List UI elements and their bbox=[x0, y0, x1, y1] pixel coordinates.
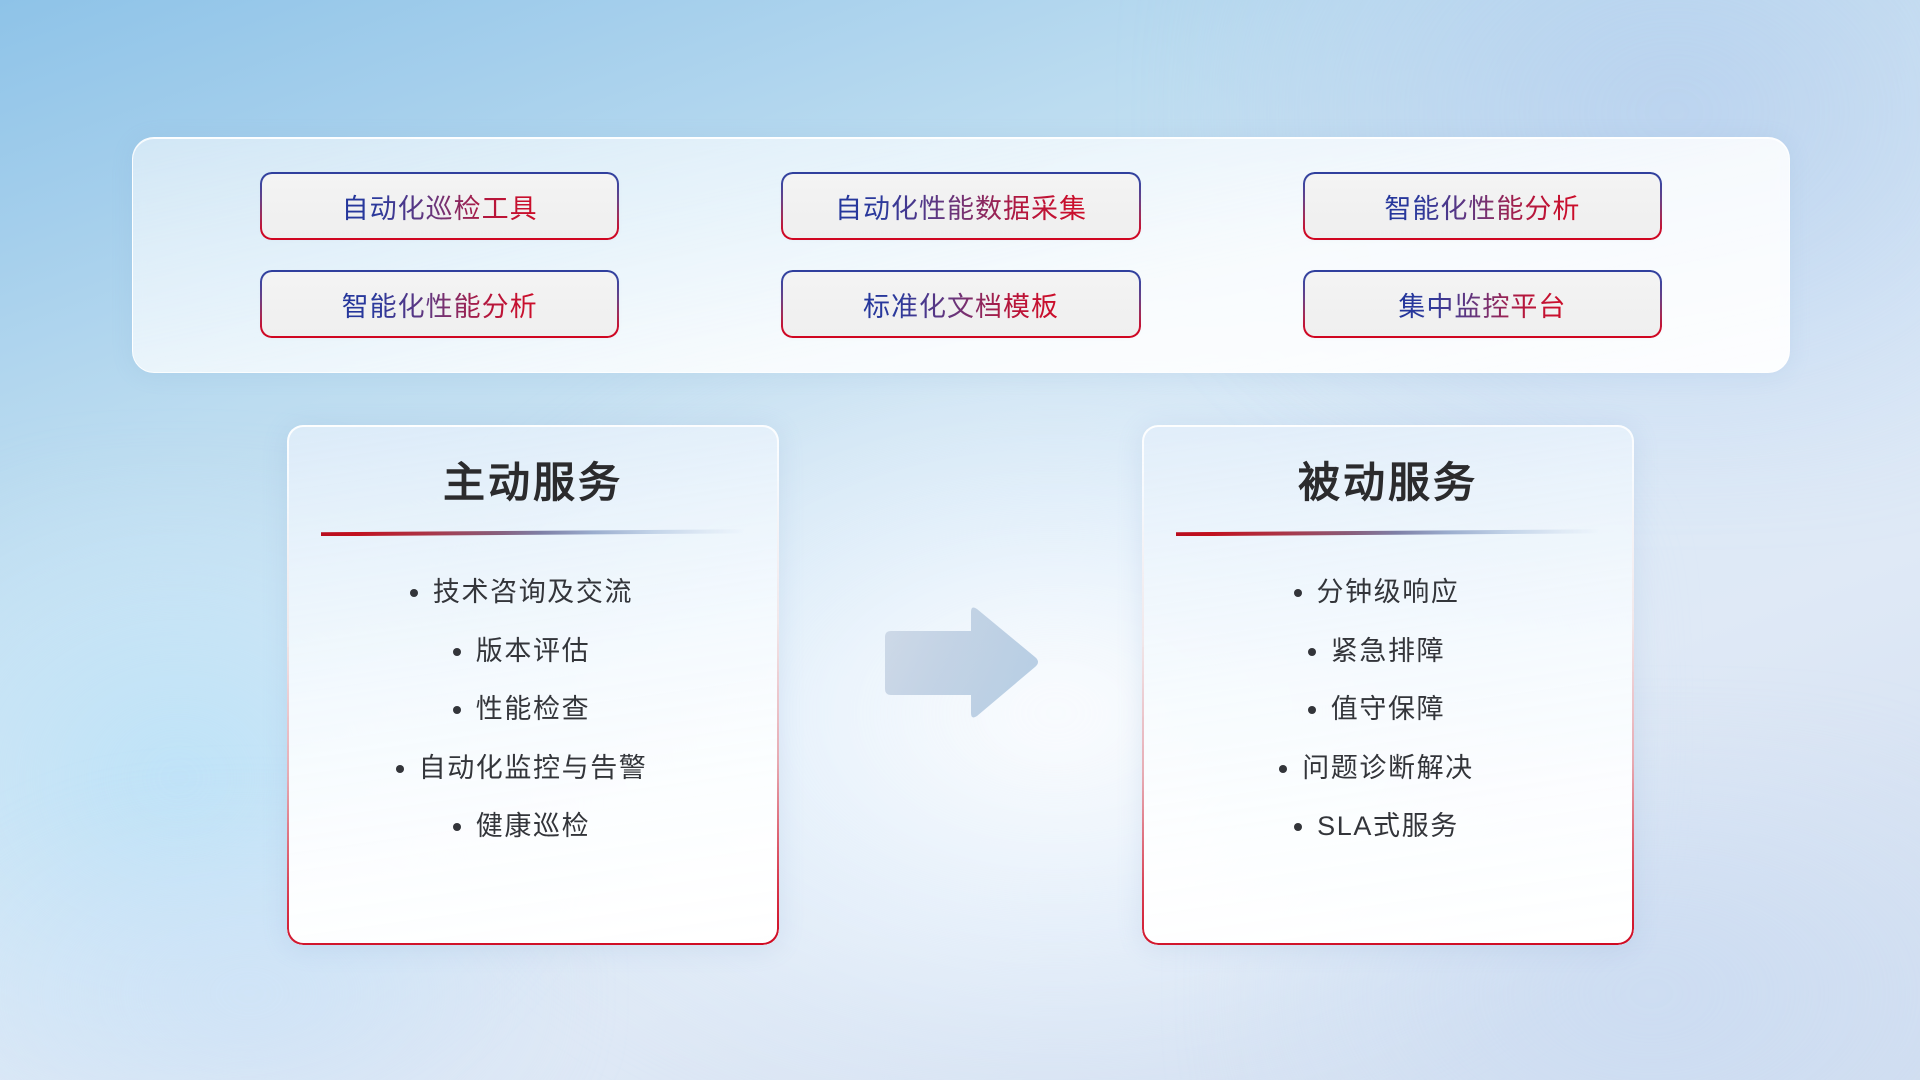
capability-chip[interactable]: 集中监控平台 bbox=[1304, 272, 1660, 336]
capability-panel: 自动化巡检工具 自动化性能数据采集 智能化性能分析 智能化性能分析 标准化文档模… bbox=[132, 137, 1790, 373]
capability-chip-label: 集中监控平台 bbox=[1398, 285, 1566, 324]
service-list-item: SLA式服务 bbox=[1317, 808, 1459, 844]
service-card-inner: 主动服务 技术咨询及交流 版本评估 性能检查 自动化监控与告警 健康巡检 bbox=[287, 425, 779, 945]
service-card-item-list: 技术咨询及交流 版本评估 性能检查 自动化监控与告警 健康巡检 bbox=[321, 574, 745, 915]
service-card-item-list: 分钟级响应 紧急排障 值守保障 问题诊断解决 SLA式服务 bbox=[1176, 574, 1600, 915]
service-card-title: 被动服务 bbox=[1298, 459, 1478, 507]
service-list-item: 技术咨询及交流 bbox=[433, 574, 633, 610]
capability-chip-label: 智能化性能分析 bbox=[342, 285, 538, 324]
capability-chip-label: 标准化文档模板 bbox=[863, 285, 1059, 324]
service-card-inner: 被动服务 分钟级响应 紧急排障 值守保障 问题诊断解决 SLA式服务 bbox=[1142, 425, 1634, 945]
capability-chip-label: 自动化性能数据采集 bbox=[835, 187, 1087, 226]
capability-chip-label: 智能化性能分析 bbox=[1384, 187, 1580, 226]
service-list-item: 值守保障 bbox=[1331, 691, 1445, 727]
capability-chip[interactable]: 智能化性能分析 bbox=[262, 272, 618, 336]
service-card-title: 主动服务 bbox=[443, 459, 623, 507]
service-card-divider bbox=[321, 529, 745, 536]
capability-chip[interactable]: 自动化性能数据采集 bbox=[783, 174, 1139, 238]
service-list-item: 性能检查 bbox=[476, 691, 590, 727]
flow-arrow-right-icon bbox=[879, 604, 1041, 722]
service-list-item: 分钟级响应 bbox=[1317, 574, 1460, 610]
slide-stage: 自动化巡检工具 自动化性能数据采集 智能化性能分析 智能化性能分析 标准化文档模… bbox=[0, 0, 1920, 1080]
service-list-item: 健康巡检 bbox=[476, 808, 590, 844]
service-list-item: 紧急排障 bbox=[1331, 633, 1445, 669]
service-list-item: 问题诊断解决 bbox=[1302, 750, 1474, 786]
service-card-proactive: 主动服务 技术咨询及交流 版本评估 性能检查 自动化监控与告警 健康巡检 bbox=[287, 425, 779, 945]
service-list-item: 自动化监控与告警 bbox=[419, 750, 648, 786]
capability-chip[interactable]: 智能化性能分析 bbox=[1304, 174, 1660, 238]
service-list-item: 版本评估 bbox=[476, 633, 590, 669]
capability-chip[interactable]: 标准化文档模板 bbox=[783, 272, 1139, 336]
capability-chip[interactable]: 自动化巡检工具 bbox=[262, 174, 618, 238]
service-card-reactive: 被动服务 分钟级响应 紧急排障 值守保障 问题诊断解决 SLA式服务 bbox=[1142, 425, 1634, 945]
service-card-divider bbox=[1176, 529, 1600, 536]
capability-chip-grid: 自动化巡检工具 自动化性能数据采集 智能化性能分析 智能化性能分析 标准化文档模… bbox=[133, 138, 1789, 372]
capability-chip-label: 自动化巡检工具 bbox=[342, 187, 538, 226]
